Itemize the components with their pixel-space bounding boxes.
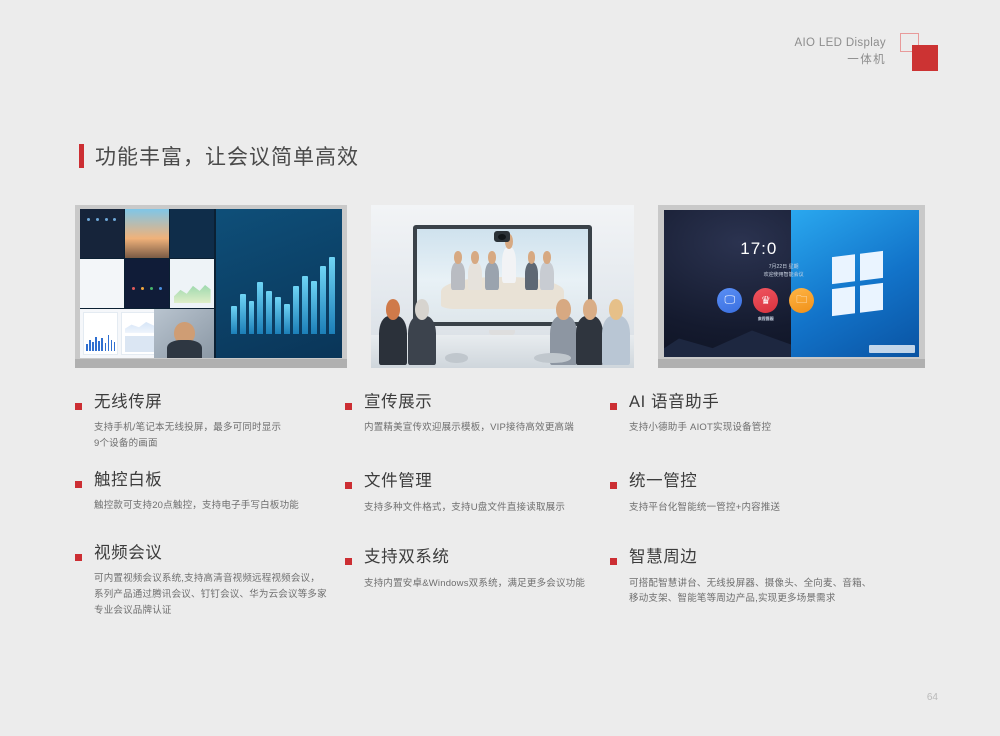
attendee-head [471, 251, 479, 263]
attendee-head [454, 251, 462, 263]
bullet-square-icon [345, 558, 352, 565]
attendee-head [543, 251, 551, 263]
feature-desc: 支持手机/笔记本无线投屏，最多可同时显示 9个设备的画面 [94, 420, 345, 451]
dashboard-bars-icon [86, 333, 115, 351]
wall-bigbars-icon [231, 251, 335, 334]
files-glyph: 🗀 [796, 291, 807, 310]
bullet-square-icon [345, 403, 352, 410]
section-title-text: 功能丰富，让会议简单高效 [95, 141, 359, 171]
bullet-square-icon [610, 482, 617, 489]
feature-title: 智慧周边 [629, 547, 910, 568]
wall-cell-wide-dashboard [80, 309, 214, 358]
feature-desc: 可搭配智慧讲台、无线投屏器、摄像头、全向麦、音箱、 移动支架、智能笔等周边产品,… [629, 576, 910, 607]
local-attendee [576, 316, 604, 365]
display-stand [75, 359, 347, 368]
attendee-head [488, 251, 496, 263]
dual-os-bezel: 17:0 7月22日 星期 欢迎使用智能会议 🖵 书写白板 ♛ 欢迎界面 [658, 205, 925, 368]
feature-title: 无线传屏 [94, 392, 345, 413]
feature-grid: 无线传屏 支持手机/笔记本无线投屏，最多可同时显示 9个设备的画面 触控白板 触… [75, 392, 935, 618]
bullet-square-icon [75, 554, 82, 561]
wall-cell-light-dashboard [80, 259, 124, 308]
dashboard-block [83, 312, 118, 355]
display-stand [658, 359, 925, 368]
feature-title: AI 语音助手 [629, 392, 910, 413]
page-number: 64 [927, 692, 938, 703]
remote-attendee [468, 262, 482, 290]
bullet-square-icon [345, 482, 352, 489]
attendee-head [556, 299, 570, 320]
wall-presenter-face [154, 309, 214, 358]
display-soundbar [489, 330, 515, 335]
whiteboard-glyph: 🖵 [724, 294, 735, 307]
feature-desc: 内置精美宣传欢迎展示模板，VIP接待高效更高端 [364, 420, 610, 436]
feature-desc: 支持小德助手 AIOT实现设备管控 [629, 420, 910, 436]
conference-microphone-icon [534, 353, 571, 363]
dual-os-screen: 17:0 7月22日 星期 欢迎使用智能会议 🖵 书写白板 ♛ 欢迎界面 [664, 210, 919, 357]
feature-title: 支持双系统 [364, 547, 610, 568]
section-title: 功能丰富，让会议简单高效 [79, 141, 359, 171]
logo-mark-icon [900, 33, 938, 71]
brand-name-cn: 一体机 [794, 52, 886, 69]
whiteboard-icon[interactable]: 🖵 书写白板 [717, 288, 742, 313]
android-app-shortcuts: 🖵 书写白板 ♛ 欢迎界面 🗀 文件管理 [717, 288, 814, 313]
feature-title: 宣传展示 [364, 392, 610, 413]
feature-column-1: 无线传屏 支持手机/笔记本无线投屏，最多可同时显示 9个设备的画面 触控白板 触… [75, 392, 345, 618]
local-attendee [408, 316, 436, 365]
feature-item: 文件管理 支持多种文件格式，支持U盘文件直接读取展示 [345, 471, 610, 515]
attendee-head [528, 251, 536, 263]
remote-attendee [485, 262, 499, 290]
feature-desc: 支持多种文件格式，支持U盘文件直接读取展示 [364, 500, 610, 516]
feature-item: 触控白板 触控款可支持20点触控，支持电子手写白板功能 [75, 470, 345, 514]
feature-item: 支持双系统 支持内置安卓&Windows双系统，满足更多会议功能 [345, 547, 610, 591]
wall-minibars-icon [176, 228, 209, 251]
brand-logo-group: AIO LED Display 一体机 [794, 33, 938, 71]
windows-taskbar [869, 345, 915, 353]
wall-cell-dark-ui [80, 209, 124, 258]
video-wall-screenshot [75, 205, 347, 368]
wall-minibars-icon [86, 279, 119, 302]
logo-solid-square-icon [912, 45, 938, 71]
slide-page: AIO LED Display 一体机 功能丰富，让会议简单高效 [0, 0, 1000, 736]
bullet-square-icon [75, 481, 82, 488]
android-clock: 17:0 [740, 239, 777, 259]
feature-desc: 可内置视频会议系统,支持高清音视频远程视频会议， 系列产品通过腾讯会议、钉钉会议… [94, 571, 345, 618]
attendee-head [609, 299, 623, 320]
android-date-line: 7月22日 星期 [725, 263, 842, 272]
files-label: 文件管理 [758, 316, 774, 322]
feature-desc: 支持内置安卓&Windows双系统，满足更多会议功能 [364, 576, 610, 592]
feature-item: 无线传屏 支持手机/笔记本无线投屏，最多可同时显示 9个设备的画面 [75, 392, 345, 452]
feature-item: 宣传展示 内置精美宣传欢迎展示模板，VIP接待高效更高端 [345, 392, 610, 436]
screenshot-gallery: 17:0 7月22日 星期 欢迎使用智能会议 🖵 书写白板 ♛ 欢迎界面 [75, 205, 925, 368]
feature-title: 触控白板 [94, 470, 345, 491]
feature-desc: 支持平台化智能统一管控+内容推送 [629, 500, 910, 516]
video-conference-screenshot [371, 205, 633, 368]
local-attendee [602, 316, 630, 365]
windows-desktop-panel [791, 210, 919, 357]
wall-cell-big-chart [216, 209, 343, 358]
feature-desc: 触控款可支持20点触控，支持电子手写白板功能 [94, 498, 345, 514]
bullet-square-icon [75, 403, 82, 410]
wall-area-chart-icon [174, 281, 211, 303]
feature-column-3: AI 语音助手 支持小德助手 AIOT实现设备管控 统一管控 支持平台化智能统一… [610, 392, 910, 618]
attendee-head [415, 299, 429, 320]
conference-camera-icon [494, 231, 510, 242]
remote-attendee [525, 262, 539, 290]
video-wall-grid [80, 209, 342, 358]
windows-logo-icon [832, 251, 883, 316]
android-date-welcome: 7月22日 星期 欢迎使用智能会议 [725, 263, 842, 280]
wall-cell-chart-dark [170, 209, 214, 258]
wall-cell-area-chart [170, 259, 214, 308]
wall-dot-row-icon [130, 287, 165, 290]
feature-title: 统一管控 [629, 471, 910, 492]
video-wall-frame [75, 205, 347, 368]
feature-item: 统一管控 支持平台化智能统一管控+内容推送 [610, 471, 910, 515]
remote-attendee [540, 262, 554, 290]
feature-title: 视频会议 [94, 543, 345, 564]
android-welcome-line: 欢迎使用智能会议 [725, 271, 842, 280]
attendee-head [386, 299, 400, 320]
welcome-glyph: ♛ [761, 294, 771, 307]
feature-item: 智慧周边 可搭配智慧讲台、无线投屏器、摄像头、全向麦、音箱、 移动支架、智能笔等… [610, 547, 910, 607]
section-accent-bar-icon [79, 144, 84, 168]
feature-item: 视频会议 可内置视频会议系统,支持高清音视频远程视频会议， 系列产品通过腾讯会议… [75, 543, 345, 618]
remote-attendee [451, 262, 465, 290]
wall-cell-balloon [125, 209, 169, 258]
brand-name-en: AIO LED Display [794, 35, 886, 52]
dual-os-screenshot: 17:0 7月22日 星期 欢迎使用智能会议 🖵 书写白板 ♛ 欢迎界面 [658, 205, 925, 368]
wall-cell-night [125, 259, 169, 308]
welcome-icon[interactable]: ♛ 欢迎界面 [753, 288, 778, 313]
wall-dot-row-icon [84, 218, 119, 221]
feature-item: AI 语音助手 支持小德助手 AIOT实现设备管控 [610, 392, 910, 436]
bullet-square-icon [610, 403, 617, 410]
feature-column-2: 宣传展示 内置精美宣传欢迎展示模板，VIP接待高效更高端 文件管理 支持多种文件… [345, 392, 610, 618]
brand-text: AIO LED Display 一体机 [794, 35, 886, 68]
remote-presenter [502, 247, 516, 282]
files-icon[interactable]: 🗀 文件管理 [789, 288, 814, 313]
feature-title: 文件管理 [364, 471, 610, 492]
local-attendee [379, 316, 407, 365]
bullet-square-icon [610, 558, 617, 565]
attendee-head [583, 299, 597, 320]
